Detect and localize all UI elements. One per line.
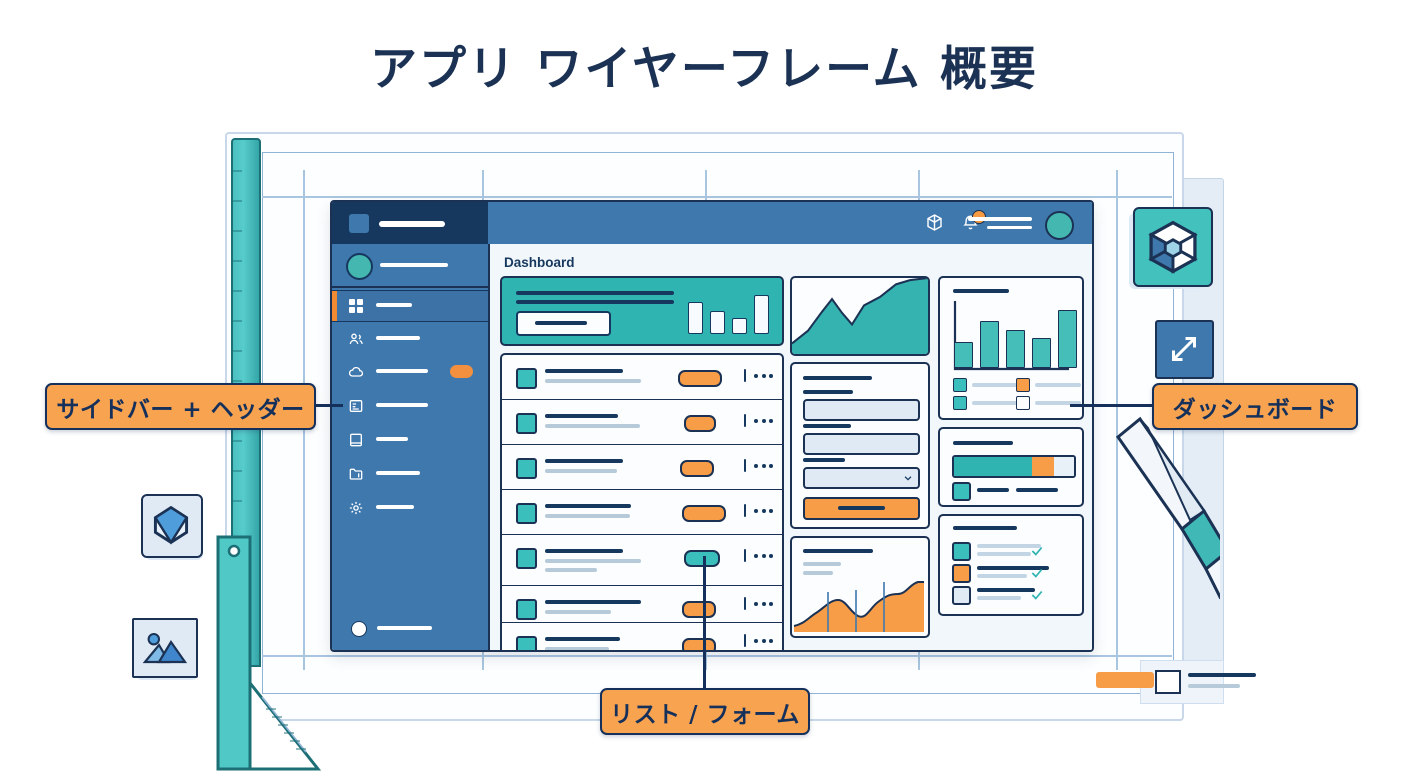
image-icon (141, 627, 189, 669)
sidebar-item-cloud[interactable] (332, 357, 488, 387)
row-menu-icon[interactable] (754, 554, 773, 558)
callout-dashboard[interactable]: ダッシュボード (1152, 383, 1358, 430)
sidebar-user-name (380, 263, 448, 267)
row-checkbox[interactable] (516, 548, 537, 569)
checklist-swatch[interactable] (952, 586, 971, 605)
sidebar-user[interactable] (332, 244, 488, 288)
table-row[interactable] (502, 355, 782, 400)
row-checkbox[interactable] (516, 599, 537, 620)
sidebar (332, 244, 490, 650)
cube-icon[interactable] (925, 213, 944, 237)
row-checkbox[interactable] (516, 636, 537, 652)
sidebar-item-label (376, 303, 412, 307)
sidebar-item-label (376, 437, 408, 441)
sidebar-item-dashboard[interactable] (332, 290, 488, 322)
banner-mini-bars (688, 290, 769, 334)
area-chart-card-top (790, 276, 930, 356)
sidebar-item-label (376, 336, 420, 340)
checklist-swatch[interactable] (952, 564, 971, 583)
sidebar-item-label (376, 471, 420, 475)
row-checkbox[interactable] (516, 368, 537, 389)
polygon-3d-icon (149, 503, 193, 547)
status-badge (684, 550, 720, 567)
bar-chart (954, 312, 1077, 368)
monitor-icon (348, 432, 364, 448)
list-column (500, 276, 784, 652)
widgets-column (938, 276, 1084, 616)
status-badge (684, 415, 716, 432)
wireframe-overview-canvas: アプリ ワイヤーフレーム 概要 (0, 0, 1408, 768)
row-menu-icon[interactable] (754, 639, 773, 643)
table-row[interactable] (502, 490, 782, 535)
legend-swatch (1016, 396, 1030, 410)
status-badge (678, 370, 722, 387)
footer-line (1188, 684, 1240, 688)
checklist-card (938, 514, 1084, 616)
app-window: Dashboard (330, 200, 1094, 652)
row-checkbox[interactable] (516, 503, 537, 524)
sidebar-badge (450, 365, 473, 378)
row-menu-icon[interactable] (754, 602, 773, 606)
collapse-label (377, 626, 432, 630)
chevron-down-icon (903, 473, 913, 483)
image-tile[interactable] (132, 618, 198, 678)
status-badge (680, 460, 714, 477)
submit-button[interactable] (803, 497, 920, 520)
page-title: アプリ ワイヤーフレーム 概要 (0, 30, 1408, 99)
status-badge (682, 601, 716, 618)
folder-icon (348, 466, 364, 482)
document-icon (348, 398, 364, 414)
gear-icon (348, 500, 364, 516)
row-menu-icon[interactable] (754, 374, 773, 378)
footer-action-bar[interactable] (1096, 672, 1154, 688)
header-text-placeholder (968, 217, 1032, 234)
app-name-placeholder (379, 221, 445, 227)
app-logo-square (349, 214, 369, 233)
callout-sidebar-header[interactable]: サイドバー + ヘッダー (45, 383, 316, 430)
row-checkbox[interactable] (516, 458, 537, 479)
hero-banner (500, 276, 784, 346)
row-menu-icon[interactable] (754, 509, 773, 513)
area-chart (792, 580, 928, 636)
status-badge (682, 638, 716, 652)
form-column (790, 276, 930, 638)
progress-card (938, 427, 1084, 507)
sidebar-item-label (376, 369, 428, 373)
users-icon (348, 331, 364, 347)
area-chart-card-bottom (790, 536, 930, 638)
sidebar-item-documents[interactable] (332, 391, 488, 421)
sidebar-item-settings[interactable] (332, 493, 488, 523)
progress-bar (952, 455, 1076, 478)
legend-item (1016, 378, 1081, 392)
footer-thumb (1155, 670, 1181, 694)
table-row[interactable] (502, 445, 782, 490)
table-row[interactable] (502, 586, 782, 623)
pencil-tool (1100, 415, 1220, 650)
check-icon (1030, 588, 1044, 602)
app-header (332, 202, 1092, 246)
check-icon (1030, 544, 1044, 558)
sidebar-item-users[interactable] (332, 324, 488, 354)
cloud-icon (348, 364, 364, 380)
set-square-shape (206, 533, 336, 773)
legend-swatch (1016, 378, 1030, 392)
row-menu-icon[interactable] (754, 464, 773, 468)
select-dropdown[interactable] (803, 467, 920, 489)
text-input-1[interactable] (803, 399, 920, 421)
sidebar-item-label (376, 505, 414, 509)
legend-item (1016, 396, 1081, 410)
sidebar-item-devices[interactable] (332, 425, 488, 455)
collapse-toggle[interactable] (332, 616, 488, 642)
dashboard-title: Dashboard (504, 255, 575, 270)
legend-swatch (953, 396, 967, 410)
legend-item (953, 396, 1018, 410)
area-chart (792, 278, 928, 354)
collapse-dot (351, 621, 367, 637)
avatar[interactable] (1045, 211, 1074, 240)
text-input-2[interactable] (803, 433, 920, 455)
brand-area (332, 202, 488, 244)
check-icon (1030, 566, 1044, 580)
legend-swatch (952, 482, 971, 501)
hexagon-gem-icon (1144, 218, 1202, 276)
guide-line (262, 196, 1172, 198)
polygon-tile[interactable] (141, 494, 203, 558)
gem-tile[interactable] (1133, 207, 1213, 287)
table-row[interactable] (502, 623, 782, 652)
avatar (346, 253, 373, 280)
footer-line (1188, 673, 1256, 677)
row-checkbox[interactable] (516, 413, 537, 434)
row-menu-icon[interactable] (754, 419, 773, 423)
set-square-tool (206, 533, 326, 769)
callout-leader (703, 556, 706, 688)
banner-primary-button[interactable] (516, 311, 611, 336)
list-card (500, 353, 784, 652)
table-row[interactable] (502, 400, 782, 445)
resize-tile[interactable] (1155, 320, 1214, 379)
pencil-shape (1100, 415, 1220, 650)
legend-item (953, 378, 1018, 392)
table-row[interactable] (502, 535, 782, 586)
sidebar-item-label (376, 403, 428, 407)
bar-chart-card (938, 276, 1084, 420)
sidebar-item-folders[interactable] (332, 459, 488, 489)
form-card (790, 362, 930, 529)
status-badge (682, 505, 726, 522)
grid-icon (348, 298, 364, 314)
callout-list-form[interactable]: リスト / フォーム (600, 688, 810, 735)
legend-swatch (953, 378, 967, 392)
guide-line (262, 655, 1172, 657)
main-content: Dashboard (490, 244, 1092, 650)
checklist-swatch[interactable] (952, 542, 971, 561)
resize-arrow-icon (1166, 331, 1202, 367)
